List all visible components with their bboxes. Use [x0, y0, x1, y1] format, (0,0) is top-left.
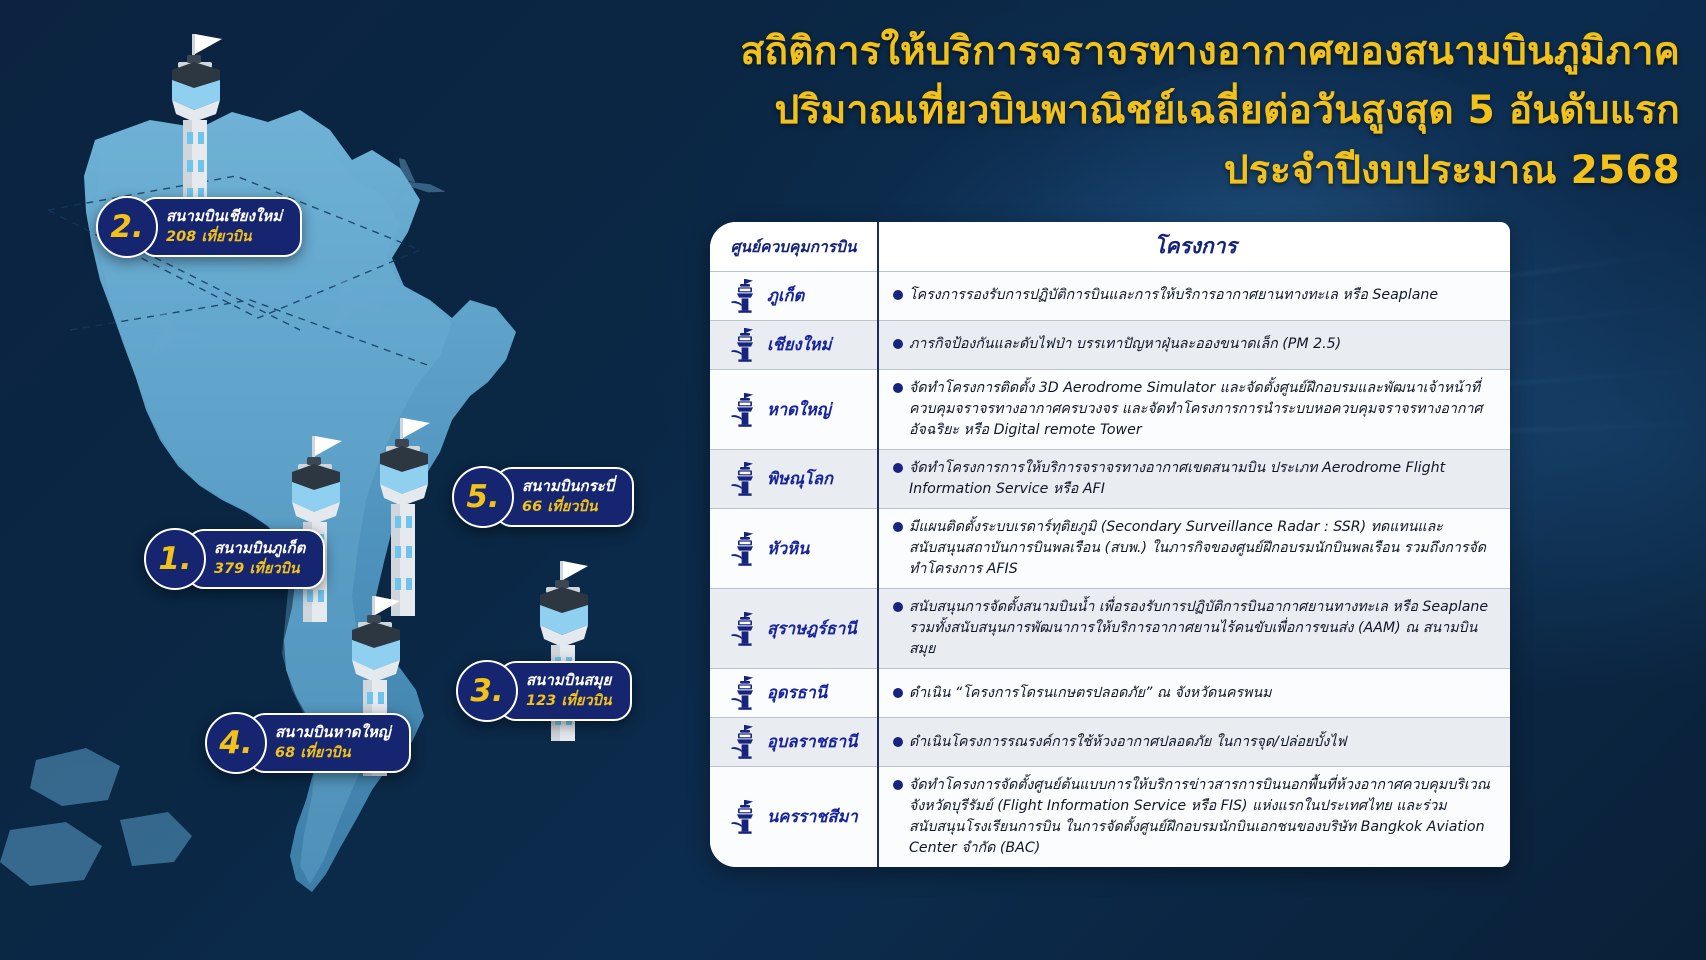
title-line-1: สถิติการให้บริการจราจรทางอากาศของสนามบิน…: [600, 22, 1680, 81]
bullet-icon: [893, 290, 903, 300]
control-center-name: สุราษฎร์ธานี: [767, 616, 857, 642]
control-tower-icon: [730, 532, 760, 566]
callout-airport-name: สนามบินภูเก็ต: [214, 538, 305, 559]
cell-control-center: สุราษฎร์ธานี: [710, 589, 878, 669]
bullet-icon: [893, 339, 903, 349]
callout-airport-name: สนามบินกระบี่: [522, 476, 614, 497]
cell-control-center: หาดใหญ่: [710, 370, 878, 450]
control-tower-icon: [730, 328, 760, 362]
cell-project: ดำเนิน “โครงการโดรนเกษตรปลอดภัย” ณ จังหว…: [878, 669, 1510, 718]
callout-flight-count: 123 เที่ยวบิน: [526, 691, 612, 712]
bullet-icon: [893, 602, 903, 612]
table-header-row: ศูนย์ควบคุมการบิน โครงการ: [710, 222, 1510, 272]
control-center-name: เชียงใหม่: [767, 332, 831, 358]
callout-rank-4[interactable]: 4. สนามบินหาดใหญ่ 68 เที่ยวบิน: [205, 712, 411, 774]
callout-rank-number: 3.: [456, 660, 518, 722]
control-center-label-group: สุราษฎร์ธานี: [718, 612, 869, 646]
control-tower-icon: [730, 462, 760, 496]
table-body: ภูเก็ตโครงการรองรับการปฏิบัติการบินและกา…: [710, 272, 1510, 868]
cell-control-center: หัวหิน: [710, 509, 878, 589]
callout-flight-count: 66 เที่ยวบิน: [522, 497, 614, 518]
cell-project: ดำเนินโครงการรณรงค์การใช้ห้วงอากาศปลอดภั…: [878, 718, 1510, 767]
callout-rank-3[interactable]: 3. สนามบินสมุย 123 เที่ยวบิน: [456, 660, 632, 722]
callout-body: สนามบินภูเก็ต 379 เที่ยวบิน: [186, 529, 325, 590]
callout-body: สนามบินสมุย 123 เที่ยวบิน: [498, 661, 632, 722]
cell-project: มีแผนติดตั้งระบบเรดาร์ทุติยภูมิ (Seconda…: [878, 509, 1510, 589]
callout-rank-number: 4.: [205, 712, 267, 774]
projects-table-card: ศูนย์ควบคุมการบิน โครงการ ภูเก็ตโครงการร…: [710, 222, 1510, 867]
bullet-icon: [893, 688, 903, 698]
table-row: เชียงใหม่ภารกิจป้องกันและดับไฟป่า บรรเทา…: [710, 321, 1510, 370]
callout-body: สนามบินเชียงใหม่ 208 เที่ยวบิน: [138, 197, 302, 258]
table-row: อุดรธานีดำเนิน “โครงการโดรนเกษตรปลอดภัย”…: [710, 669, 1510, 718]
control-center-name: นครราชสีมา: [767, 804, 858, 830]
control-tower-icon: [730, 393, 760, 427]
control-center-name: หัวหิน: [767, 536, 809, 562]
callout-flight-count: 208 เที่ยวบิน: [166, 227, 282, 248]
bullet-icon: [893, 737, 903, 747]
table-row: ภูเก็ตโครงการรองรับการปฏิบัติการบินและกา…: [710, 272, 1510, 321]
table-row: หาดใหญ่จัดทำโครงการติดตั้ง 3D Aerodrome …: [710, 370, 1510, 450]
callout-airport-name: สนามบินหาดใหญ่: [275, 722, 391, 743]
infographic-canvas: 2. สนามบินเชียงใหม่ 208 เที่ยวบิน 1. สนา…: [0, 0, 1706, 960]
bullet-icon: [893, 383, 903, 393]
project-description: โครงการรองรับการปฏิบัติการบินและการให้บร…: [893, 285, 1498, 306]
table-row: สุราษฎร์ธานีสนับสนุนการจัดตั้งสนามบินน้ำ…: [710, 589, 1510, 669]
project-description: ภารกิจป้องกันและดับไฟป่า บรรเทาปัญหาฝุ่น…: [893, 334, 1498, 355]
control-tower-icon: [730, 279, 760, 313]
bullet-icon: [893, 522, 903, 532]
table-row: หัวหินมีแผนติดตั้งระบบเรดาร์ทุติยภูมิ (S…: [710, 509, 1510, 589]
cell-project: จัดทำโครงการติดตั้ง 3D Aerodrome Simulat…: [878, 370, 1510, 450]
project-description: มีแผนติดตั้งระบบเรดาร์ทุติยภูมิ (Seconda…: [893, 517, 1498, 580]
projects-table: ศูนย์ควบคุมการบิน โครงการ ภูเก็ตโครงการร…: [710, 222, 1510, 867]
callout-flight-count: 379 เที่ยวบิน: [214, 559, 305, 580]
bullet-icon: [893, 463, 903, 473]
cell-control-center: พิษณุโลก: [710, 450, 878, 509]
callout-rank-number: 5.: [452, 466, 514, 528]
header-project: โครงการ: [878, 222, 1510, 272]
cell-control-center: อุดรธานี: [710, 669, 878, 718]
cell-project: สนับสนุนการจัดตั้งสนามบินน้ำ เพื่อรองรับ…: [878, 589, 1510, 669]
project-description: ดำเนินโครงการรณรงค์การใช้ห้วงอากาศปลอดภั…: [893, 732, 1498, 753]
callout-body: สนามบินหาดใหญ่ 68 เที่ยวบิน: [247, 713, 411, 774]
project-description: จัดทำโครงการจัดตั้งศูนย์ต้นแบบการให้บริก…: [893, 775, 1498, 859]
callout-rank-number: 1.: [144, 528, 206, 590]
title-line-3: ประจำปีงบประมาณ 2568: [600, 141, 1680, 200]
callout-rank-1[interactable]: 1. สนามบินภูเก็ต 379 เที่ยวบิน: [144, 528, 325, 590]
cell-project: ภารกิจป้องกันและดับไฟป่า บรรเทาปัญหาฝุ่น…: [878, 321, 1510, 370]
callout-body: สนามบินกระบี่ 66 เที่ยวบิน: [494, 467, 634, 528]
control-center-name: อุบลราชธานี: [767, 729, 857, 755]
cell-project: จัดทำโครงการการให้บริการจราจรทางอากาศเขต…: [878, 450, 1510, 509]
map-islands: [0, 748, 192, 886]
cell-project: โครงการรองรับการปฏิบัติการบินและการให้บร…: [878, 272, 1510, 321]
control-center-label-group: นครราชสีมา: [718, 800, 869, 834]
callout-rank-number: 2.: [96, 196, 158, 258]
cell-control-center: ภูเก็ต: [710, 272, 878, 321]
control-center-name: พิษณุโลก: [767, 466, 833, 492]
callout-airport-name: สนามบินเชียงใหม่: [166, 206, 282, 227]
control-tower-icon: [730, 612, 760, 646]
project-description: จัดทำโครงการติดตั้ง 3D Aerodrome Simulat…: [893, 378, 1498, 441]
control-center-label-group: อุบลราชธานี: [718, 725, 869, 759]
project-description: สนับสนุนการจัดตั้งสนามบินน้ำ เพื่อรองรับ…: [893, 597, 1498, 660]
cell-control-center: นครราชสีมา: [710, 767, 878, 868]
control-center-label-group: หัวหิน: [718, 532, 869, 566]
table-row: พิษณุโลกจัดทำโครงการการให้บริการจราจรทาง…: [710, 450, 1510, 509]
control-center-label-group: ภูเก็ต: [718, 279, 869, 313]
table-row: อุบลราชธานีดำเนินโครงการรณรงค์การใช้ห้วง…: [710, 718, 1510, 767]
table-row: นครราชสีมาจัดทำโครงการจัดตั้งศูนย์ต้นแบบ…: [710, 767, 1510, 868]
control-center-label-group: หาดใหญ่: [718, 393, 869, 427]
control-center-name: อุดรธานี: [767, 680, 827, 706]
control-center-name: หาดใหญ่: [767, 397, 831, 423]
control-tower-icon: [730, 800, 760, 834]
header-control-center: ศูนย์ควบคุมการบิน: [710, 222, 878, 272]
cell-control-center: เชียงใหม่: [710, 321, 878, 370]
callout-flight-count: 68 เที่ยวบิน: [275, 743, 391, 764]
table-head: ศูนย์ควบคุมการบิน โครงการ: [710, 222, 1510, 272]
callout-rank-2[interactable]: 2. สนามบินเชียงใหม่ 208 เที่ยวบิน: [96, 196, 302, 258]
callout-airport-name: สนามบินสมุย: [526, 670, 612, 691]
page-title: สถิติการให้บริการจราจรทางอากาศของสนามบิน…: [600, 22, 1680, 200]
bullet-icon: [893, 780, 903, 790]
callout-rank-5[interactable]: 5. สนามบินกระบี่ 66 เที่ยวบิน: [452, 466, 634, 528]
cell-project: จัดทำโครงการจัดตั้งศูนย์ต้นแบบการให้บริก…: [878, 767, 1510, 868]
control-center-label-group: อุดรธานี: [718, 676, 869, 710]
project-description: จัดทำโครงการการให้บริการจราจรทางอากาศเขต…: [893, 458, 1498, 500]
control-center-name: ภูเก็ต: [767, 283, 804, 309]
control-center-label-group: เชียงใหม่: [718, 328, 869, 362]
control-tower-icon: [730, 676, 760, 710]
cell-control-center: อุบลราชธานี: [710, 718, 878, 767]
control-center-label-group: พิษณุโลก: [718, 462, 869, 496]
title-line-2: ปริมาณเที่ยวบินพาณิชย์เฉลี่ยต่อวันสูงสุด…: [600, 81, 1680, 140]
project-description: ดำเนิน “โครงการโดรนเกษตรปลอดภัย” ณ จังหว…: [893, 683, 1498, 704]
control-tower-icon: [730, 725, 760, 759]
